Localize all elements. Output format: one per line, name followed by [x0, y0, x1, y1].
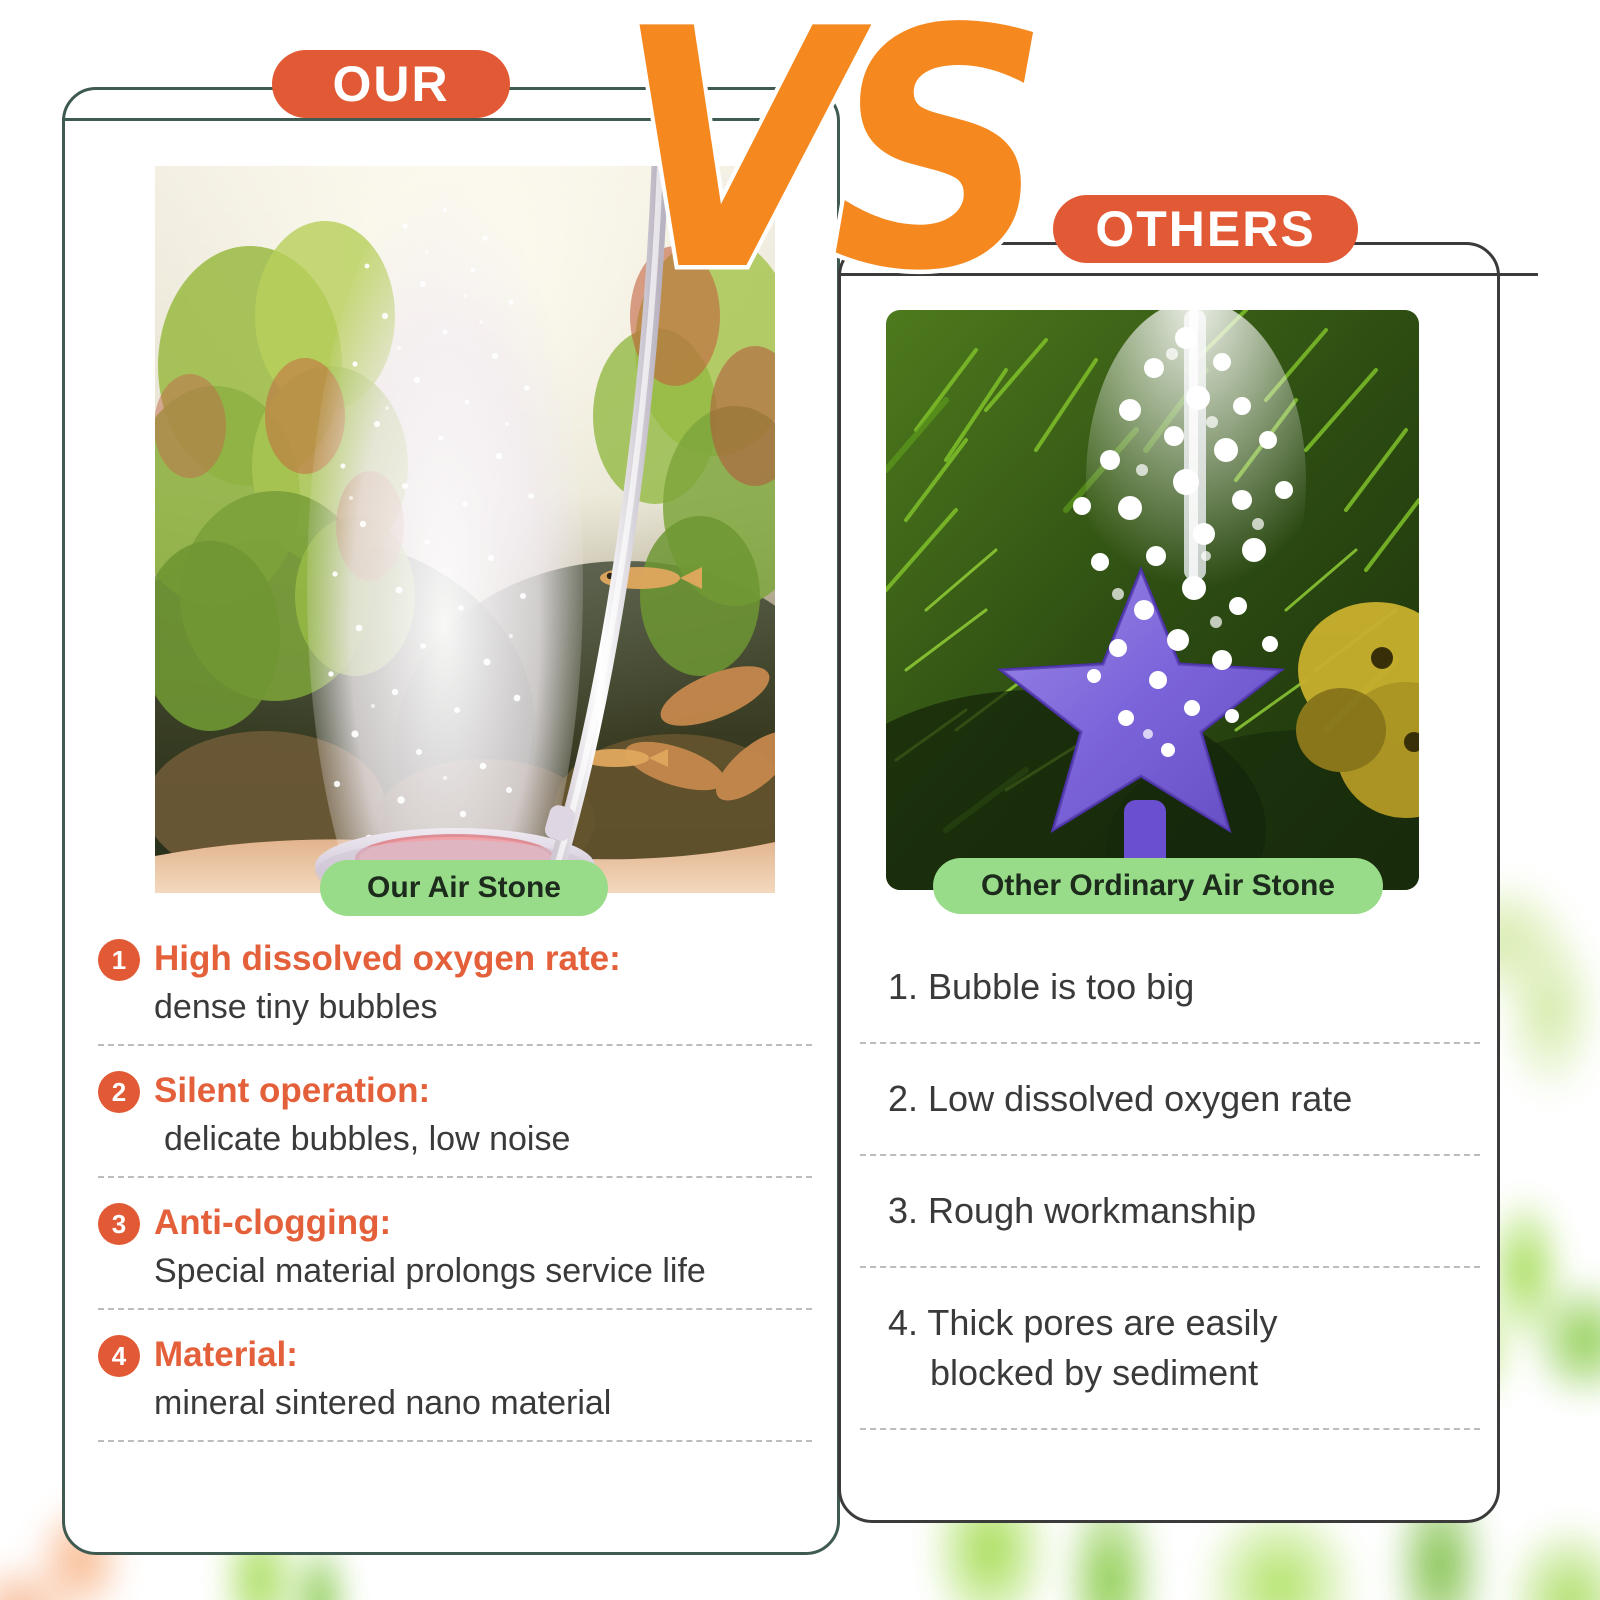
others-drawback-list: 1. Bubble is too big 2. Low dissolved ox… — [860, 962, 1480, 1430]
others-list-item: 1. Bubble is too big — [860, 962, 1480, 1044]
others-header-badge: OTHERS — [1053, 195, 1358, 263]
our-header-badge: OUR — [272, 50, 510, 118]
others-list-item: 2. Low dissolved oxygen rate — [860, 1044, 1480, 1156]
others-list-item-text: 4. Thick pores are easily — [888, 1302, 1278, 1343]
feature-number-badge: 2 — [98, 1071, 140, 1113]
others-list-item-text: 3. Rough workmanship — [888, 1190, 1256, 1231]
our-feature-item: 4 Material: mineral sintered nano materi… — [98, 1332, 812, 1442]
feature-description: dense tiny bubbles — [98, 984, 812, 1030]
others-list-item-text: 1. Bubble is too big — [888, 966, 1194, 1007]
our-caption-label: Our Air Stone — [320, 860, 608, 916]
others-product-photo — [886, 310, 1419, 890]
others-list-item: 3. Rough workmanship — [860, 1156, 1480, 1268]
our-feature-item: 3 Anti-clogging: Special material prolon… — [98, 1200, 812, 1310]
vs-logo: VS — [607, 0, 1039, 326]
others-list-item-text-continued: blocked by sediment — [888, 1348, 1480, 1398]
our-feature-list: 1 High dissolved oxygen rate: dense tiny… — [98, 936, 812, 1442]
feature-description: mineral sintered nano material — [98, 1380, 812, 1426]
others-caption-label: Other Ordinary Air Stone — [933, 858, 1383, 914]
feature-title: Material: — [154, 1332, 298, 1378]
feature-number-badge: 4 — [98, 1335, 140, 1377]
vs-logo-text: VS — [616, 0, 1029, 343]
others-list-item-text: 2. Low dissolved oxygen rate — [888, 1078, 1352, 1119]
feature-number-badge: 3 — [98, 1203, 140, 1245]
our-feature-item: 2 Silent operation: delicate bubbles, lo… — [98, 1068, 812, 1178]
feature-title: High dissolved oxygen rate: — [154, 936, 621, 982]
feature-description: delicate bubbles, low noise — [98, 1116, 812, 1162]
our-feature-item: 1 High dissolved oxygen rate: dense tiny… — [98, 936, 812, 1046]
feature-title: Anti-clogging: — [154, 1200, 391, 1246]
others-list-item: 4. Thick pores are easily blocked by sed… — [860, 1268, 1480, 1430]
feature-number-badge: 1 — [98, 939, 140, 981]
feature-description: Special material prolongs service life — [98, 1248, 812, 1294]
comparison-infographic: Our Air Stone 1 High dissolved oxygen ra… — [0, 0, 1600, 1600]
feature-title: Silent operation: — [154, 1068, 430, 1114]
